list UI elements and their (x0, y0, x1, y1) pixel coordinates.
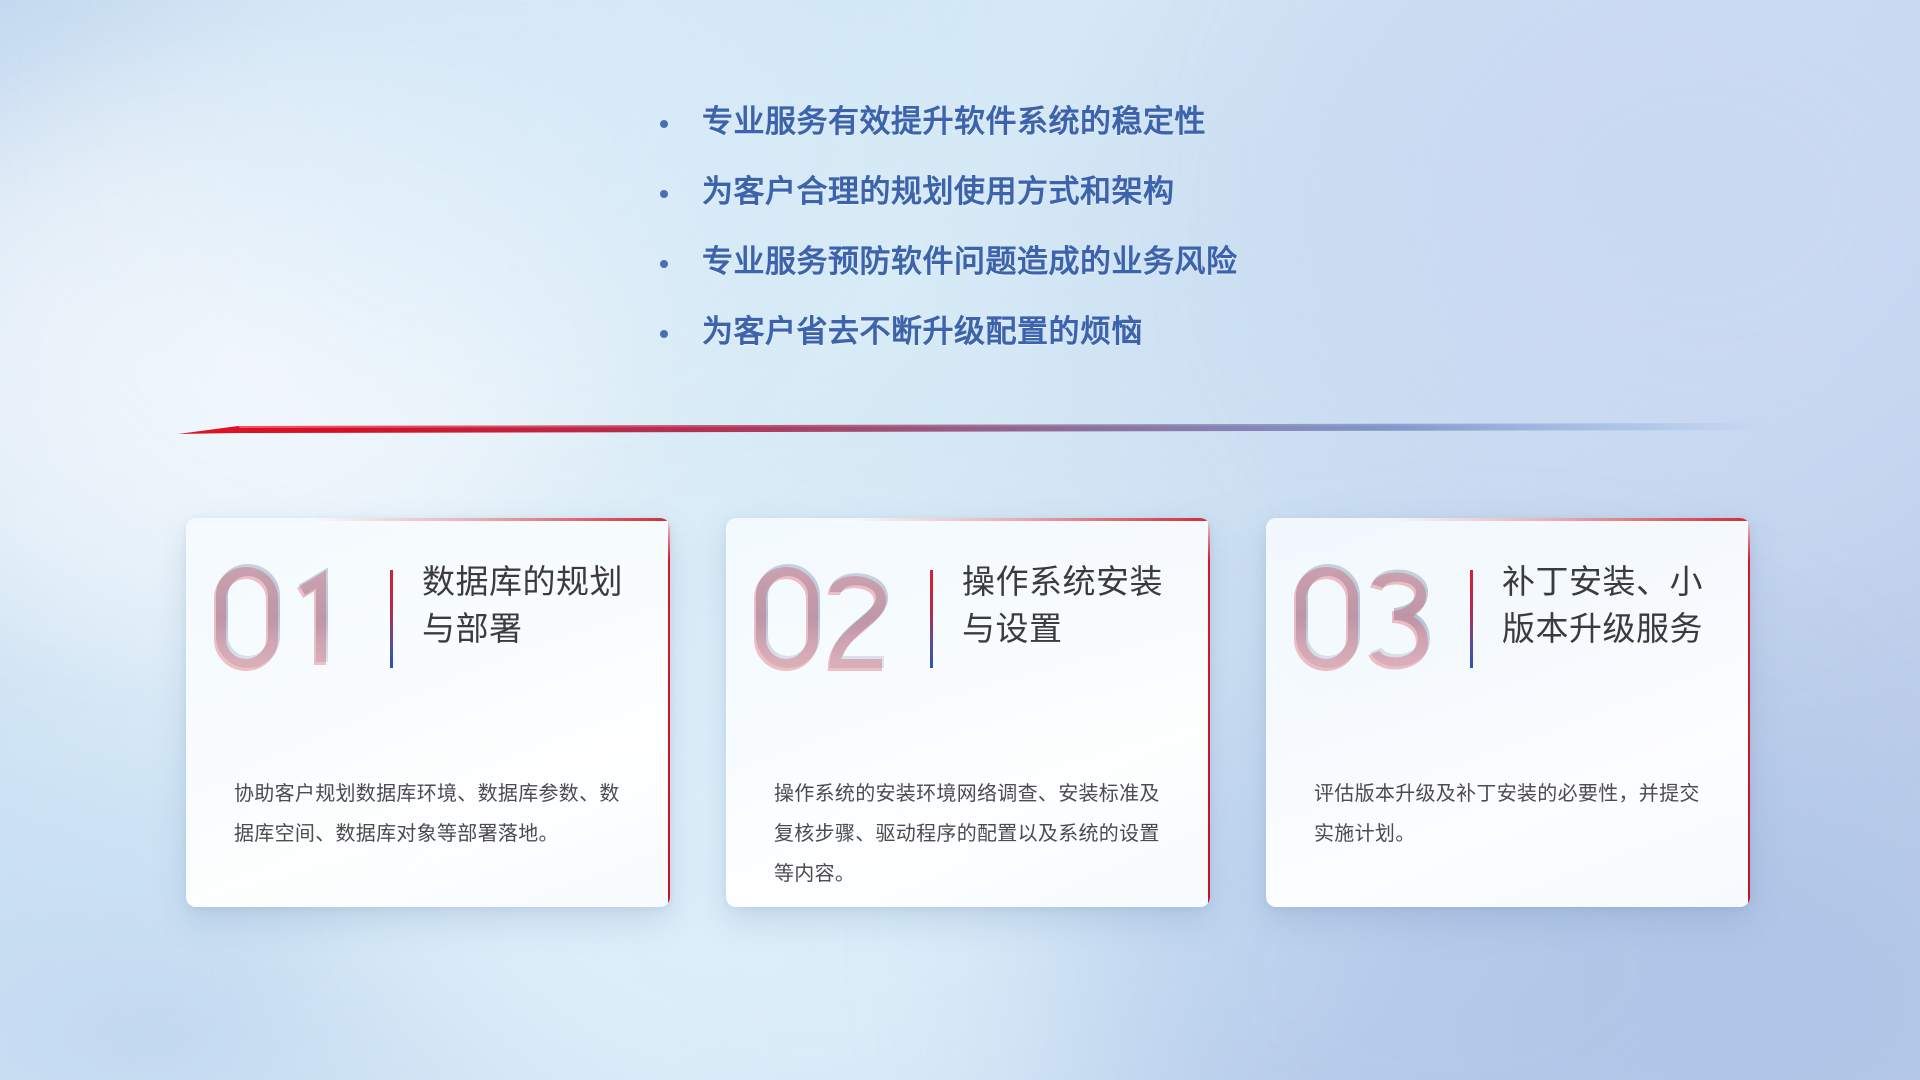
card-header: 数据库的规划与部署 (186, 560, 670, 692)
service-card[interactable]: 数据库的规划与部署 协助客户规划数据库环境、数据库参数、数据库空间、数据库对象等… (186, 518, 670, 907)
card-title-divider (930, 570, 933, 668)
slide-canvas: 专业服务有效提升软件系统的稳定性 为客户合理的规划使用方式和架构 专业服务预防软… (0, 0, 1920, 1080)
card-number-watermark (210, 556, 358, 676)
card-header: 操作系统安装与设置 (726, 560, 1210, 692)
card-title: 操作系统安装与设置 (962, 558, 1186, 652)
list-item: 专业服务预防软件问题造成的业务风险 (660, 242, 1560, 282)
bullet-dot-icon (660, 330, 668, 338)
card-title: 补丁安装、小版本升级服务 (1502, 558, 1726, 652)
bullet-text: 专业服务有效提升软件系统的稳定性 (702, 102, 1206, 142)
tapered-rule-icon (178, 420, 1778, 442)
card-number-watermark (1290, 556, 1438, 676)
card-title: 数据库的规划与部署 (422, 558, 646, 652)
section-divider (178, 420, 1778, 442)
card-body-text: 操作系统的安装环境网络调查、安装标准及复核步骤、驱动程序的配置以及系统的设置等内… (774, 774, 1166, 894)
card-number-watermark (750, 556, 898, 676)
bullet-text: 为客户合理的规划使用方式和架构 (702, 172, 1175, 212)
card-body-text: 协助客户规划数据库环境、数据库参数、数据库空间、数据库对象等部署落地。 (234, 774, 626, 854)
bullet-dot-icon (660, 190, 668, 198)
bullet-text: 专业服务预防软件问题造成的业务风险 (702, 242, 1238, 282)
list-item: 专业服务有效提升软件系统的稳定性 (660, 102, 1560, 142)
card-title-divider (390, 570, 393, 668)
list-item: 为客户合理的规划使用方式和架构 (660, 172, 1560, 212)
card-title-divider (1470, 570, 1473, 668)
bullet-dot-icon (660, 260, 668, 268)
list-item: 为客户省去不断升级配置的烦恼 (660, 312, 1560, 352)
bullet-dot-icon (660, 120, 668, 128)
service-card[interactable]: 补丁安装、小版本升级服务 评估版本升级及补丁安装的必要性，并提交实施计划。 (1266, 518, 1750, 907)
bullet-text: 为客户省去不断升级配置的烦恼 (702, 312, 1143, 352)
benefit-bullet-list: 专业服务有效提升软件系统的稳定性 为客户合理的规划使用方式和架构 专业服务预防软… (660, 102, 1560, 352)
service-card[interactable]: 操作系统安装与设置 操作系统的安装环境网络调查、安装标准及复核步骤、驱动程序的配… (726, 518, 1210, 907)
service-card-row: 数据库的规划与部署 协助客户规划数据库环境、数据库参数、数据库空间、数据库对象等… (186, 518, 1750, 907)
card-body-text: 评估版本升级及补丁安装的必要性，并提交实施计划。 (1314, 774, 1706, 854)
card-header: 补丁安装、小版本升级服务 (1266, 560, 1750, 692)
